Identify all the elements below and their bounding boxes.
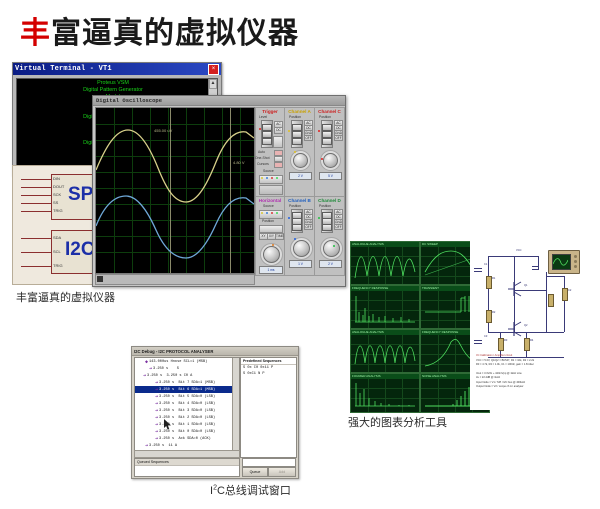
row-time: 3.250 s — [149, 444, 164, 448]
arrow-icon: ➜ — [155, 429, 158, 435]
channel-b-readout: 1 V — [289, 260, 312, 268]
spi-pin-wire — [21, 179, 51, 180]
row-text: Bit 1 SDA=0 (LSB) — [178, 423, 215, 427]
i2c-pin-wire — [21, 252, 51, 253]
resistor — [548, 294, 554, 307]
table-row[interactable]: ➜3.250 s 11 A — [135, 442, 239, 449]
schematic-annotation: Av = 22.4dB @ 1kHz — [476, 376, 500, 380]
circuit-schematic: VCC R1 R2 R3 R4 C1 C2 C3 Q1 Q2 I²C Calib… — [470, 232, 590, 410]
trigger-cursors-label: Cursors — [257, 162, 269, 166]
oscilloscope-window[interactable]: Digital Oscilloscope 455.00 uV 4.80 V — [92, 95, 346, 287]
mouse-cursor-icon — [164, 419, 172, 430]
channel-b-position-slider[interactable] — [291, 209, 303, 233]
trigger-auto-label: Auto — [258, 150, 265, 154]
row-text: Bit 4 SDA=0 (LSB) — [178, 402, 215, 406]
arrow-icon: ➜ — [149, 366, 152, 372]
channel-a-title: Channel A — [285, 108, 314, 114]
queued-sequences-panel[interactable]: Queued Sequences — [134, 458, 240, 477]
wire — [538, 256, 539, 270]
channel-d-title: Channel D — [315, 197, 344, 203]
spi-pin-label: DIN — [53, 176, 60, 181]
capacitor-plate — [474, 340, 482, 341]
row-text: S — [177, 367, 179, 371]
transistor-q2 — [508, 320, 524, 338]
horizontal-timebase-knob[interactable] — [263, 246, 280, 263]
horizontal-source-label: Source — [263, 204, 274, 208]
horizontal-mode-time[interactable]: TIME — [275, 233, 284, 240]
poster-root: 丰富逼真的虚拟仪器 Virtual Terminal - VT1 × Prote… — [0, 0, 600, 509]
trigger-level-slider[interactable] — [261, 120, 273, 148]
trigger-level-label: Level — [259, 115, 267, 119]
oscilloscope-title: Digital Oscilloscope — [93, 97, 162, 104]
row-text: 3.250 s C0 A — [166, 374, 192, 378]
wire — [546, 276, 564, 277]
queue-button[interactable]: Queue — [242, 467, 268, 477]
row-time: 3.250 s — [159, 430, 174, 434]
row-text: Bit 0 SDA=0 (LSB) — [178, 430, 215, 434]
table-row[interactable]: ➜3.250 s Bit 3 SDA=0 (LSB) — [135, 407, 239, 414]
transistor-q1 — [508, 280, 524, 298]
row-text: Hnose SCL=1 (MSB) — [171, 360, 208, 364]
virtual-terminal-title: Virtual Terminal - VT1 — [15, 65, 208, 73]
spi-pin-wire — [21, 187, 51, 188]
row-text: Bit 6 SDA=1 (MSB) — [178, 388, 215, 392]
i2c-debug-titlebar[interactable]: I2C Debug - I2C PROTOCOL ANALYSER — [132, 347, 298, 356]
capacitor-plate — [532, 269, 539, 270]
channel-d-position-slider[interactable] — [321, 209, 333, 233]
wire — [488, 256, 538, 257]
row-text: Ack SDA=0 (ACK) — [178, 437, 210, 441]
row-time: 143.000us — [149, 360, 168, 364]
trigger-source-label: Source — [263, 169, 274, 173]
horizontal-panel[interactable]: Horizontal Source Position XY X/Y TIME 1… — [255, 196, 285, 276]
schematic-label: R4 — [530, 339, 533, 342]
scroll-up-icon[interactable]: ▲ — [209, 79, 217, 89]
schematic-annotation: Output Node = V2 / scope ch A / analyser — [476, 385, 524, 389]
wire — [546, 272, 547, 332]
oscilloscope-traces — [96, 108, 254, 273]
channel-b-position-label: Position — [289, 204, 301, 208]
arrow-icon: ➜ — [145, 443, 148, 449]
arrow-icon: ➜ — [155, 422, 158, 428]
wire — [564, 276, 565, 332]
channel-d-volts-knob[interactable] — [323, 240, 340, 257]
oscilloscope-controls: Trigger Level AC DC Auto One-Shot Cursor… — [255, 107, 343, 284]
list-item[interactable]: S 0xC1 N P — [241, 371, 296, 377]
trigger-extra-control[interactable] — [259, 185, 283, 195]
oscilloscope-screen-hscroll[interactable] — [95, 274, 255, 285]
graph-analysis-panels: ANALOGUE ANALYSIS DC SWEEP FREQUENCY RES… — [350, 241, 490, 411]
schematic-label: R1 — [492, 277, 495, 280]
i2c-list-hscrollbar[interactable] — [134, 450, 240, 458]
i2c-pin-label: TRIG — [53, 263, 63, 268]
row-text: Bit 5 SDA=0 (LSB) — [178, 395, 215, 399]
spi-pin-wire — [21, 195, 51, 196]
arrow-icon: ➜ — [155, 401, 158, 407]
row-text: Bit 3 SDA=0 (LSB) — [178, 409, 215, 413]
virtual-terminal-titlebar[interactable]: Virtual Terminal - VT1 × — [13, 63, 221, 75]
trigger-oneshot-label: One-Shot — [255, 156, 270, 160]
trigger-panel[interactable]: Trigger Level AC DC Auto One-Shot Cursor… — [255, 107, 285, 197]
channel-d-panel[interactable]: Channel D Position AC DC GND OFF 2 V — [314, 196, 345, 276]
channel-c-panel[interactable]: Channel C Position AC DC GND OFF 5 V — [314, 107, 345, 197]
spi-pin-label: TRIG — [53, 208, 63, 213]
channel-a-readout: 2 V — [289, 172, 312, 180]
row-text: Bit 2 SDA=0 (LSB) — [178, 416, 215, 420]
table-row[interactable]: ➜3.250 s Bit 0 SDA=0 (LSB) — [135, 428, 239, 435]
channel-a-coupling-off[interactable]: OFF — [304, 135, 313, 141]
table-row[interactable]: ➜3.250 s Bit 4 SDA=0 (LSB) — [135, 400, 239, 407]
channel-a-position-slider[interactable] — [291, 120, 303, 148]
table-row-selected[interactable]: ➜3.250 s Bit 6 SDA=1 (MSB) — [135, 386, 239, 393]
arrow-icon: ➜ — [155, 394, 158, 400]
oscilloscope-icon — [548, 250, 580, 274]
spi-pin-label: DOUT — [53, 184, 64, 189]
graph-panel[interactable]: ANALOGUE ANALYSIS — [350, 329, 420, 373]
i2c-chip-label: I2C — [65, 239, 95, 261]
row-time: 3.250 s — [153, 367, 168, 371]
horizontal-readout: 1 ms — [259, 266, 283, 274]
capacitor-plate — [474, 343, 482, 344]
trigger-panel-title: Trigger — [256, 108, 284, 114]
osc-screen-label: 4.80 V — [233, 160, 245, 165]
terminal-line: Proteus VSM — [19, 80, 207, 87]
channel-c-title: Channel C — [315, 108, 344, 114]
channel-a-panel[interactable]: Channel A Position AC DC GND OFF 2 V — [284, 107, 315, 197]
schematic-label: C2 — [568, 289, 571, 292]
spi-pin-label: SCK — [53, 192, 61, 197]
channel-b-volts-knob[interactable] — [293, 240, 310, 257]
channel-c-readout: 5 V — [319, 172, 342, 180]
table-row[interactable]: ➜3.250 s 3.250 s C0 A — [135, 372, 239, 379]
queued-sequences-label: Queued Sequences — [135, 459, 239, 466]
bullet-icon: ◆ — [145, 359, 148, 365]
arrow-icon: ➜ — [155, 380, 158, 386]
schematic-label: C3 — [484, 335, 487, 338]
channel-c-coupling-off[interactable]: OFF — [334, 135, 343, 141]
caption-instruments: 丰富逼真的虚拟仪器 — [16, 289, 115, 305]
graph-panel[interactable]: ANALOGUE ANALYSIS — [350, 241, 420, 285]
row-time: 3.250 s — [159, 437, 174, 441]
table-row[interactable]: ➜3.250 s S — [135, 365, 239, 372]
channel-c-position-label: Position — [319, 115, 331, 119]
horizontal-position-slider[interactable] — [259, 225, 283, 233]
arrow-icon: ➜ — [155, 408, 158, 414]
row-time: 3.250 s — [159, 409, 174, 413]
table-row[interactable]: ➜3.250 s Bit 1 SDA=0 (LSB) — [135, 421, 239, 428]
caption-graphs: 强大的图表分析工具 — [348, 414, 447, 430]
i2c-debug-title: I2C Debug - I2C PROTOCOL ANALYSER — [132, 349, 213, 354]
channel-d-position-label: Position — [319, 204, 331, 208]
caption-i2c: I2C总线调试窗口 — [210, 482, 291, 498]
arrow-icon: ➜ — [155, 387, 158, 393]
i2c-list-scrollbar[interactable] — [232, 358, 239, 450]
row-time: 3.250 s — [147, 374, 162, 378]
trigger-edge-button[interactable] — [273, 136, 283, 148]
i2c-pin-wire — [21, 266, 51, 267]
arrow-icon: ➜ — [155, 415, 158, 421]
table-row[interactable]: ➜3.250 s Bit 2 SDA=0 (LSB) — [135, 414, 239, 421]
row-time: 3.250 s — [159, 381, 174, 385]
horizontal-position-label: Position — [262, 219, 274, 223]
schematic-label: R3 — [504, 339, 507, 342]
trigger-cursors-button[interactable] — [274, 162, 283, 168]
table-row[interactable]: ➜3.250 s Bit 7 SDA=1 (MSB) — [135, 379, 239, 386]
page-title: 丰富逼真的虚拟仪器 — [20, 8, 299, 52]
capacitor-plate — [474, 268, 482, 269]
channel-b-title: Channel B — [285, 197, 314, 203]
graph-panel[interactable]: FOURIER ANALYSIS — [350, 373, 420, 413]
page-title-rest: 富逼真的虚拟仪器 — [51, 17, 299, 50]
row-time: 3.250 s — [159, 402, 174, 406]
row-time: 3.250 s — [159, 395, 174, 399]
channel-d-readout: 2 V — [319, 260, 342, 268]
i2c-pin-label: SCL — [53, 249, 61, 254]
oscilloscope-titlebar[interactable]: Digital Oscilloscope — [93, 96, 345, 106]
i2c-trace-list[interactable]: ◆143.000us Hnose SCL=1 (MSB) ➜3.250 s S … — [134, 357, 240, 451]
schematic-label: C1 — [484, 263, 487, 266]
sequence-input[interactable] — [242, 458, 296, 467]
channel-d-coupling-off[interactable]: OFF — [334, 224, 343, 230]
i2c-debug-window[interactable]: I2C Debug - I2C PROTOCOL ANALYSER ◆143.0… — [131, 346, 299, 479]
schematic-label: Q2 — [524, 324, 527, 327]
table-row[interactable]: ➜3.250 s Ack SDA=0 (ACK) — [135, 435, 239, 442]
arrow-icon: ➜ — [143, 373, 146, 379]
channel-c-volts-knob[interactable] — [323, 153, 338, 168]
i2c-pin-wire — [21, 238, 51, 239]
arrow-icon: ➜ — [155, 436, 158, 442]
capacitor-plate — [474, 271, 482, 272]
terminal-line: Digital Pattern Generator — [19, 87, 207, 94]
page-title-red-char: 丰 — [20, 17, 51, 50]
row-text: Bit 7 SDA=1 (MSB) — [178, 381, 215, 385]
spi-pin-label: SS — [53, 200, 58, 205]
schematic-annotation: R3 = 4.7k, R4 = 1.0k, C1 = 100nF, gain =… — [476, 363, 534, 367]
predefined-sequences-panel[interactable]: Predefined Sequences S 0x C0 0x11 P S 0x… — [240, 357, 297, 458]
capacitor-plate — [532, 266, 539, 267]
i2c-pin-label: SDA — [53, 235, 61, 240]
spi-pin-wire — [21, 211, 51, 212]
oscilloscope-screen: 455.00 uV 4.80 V — [95, 107, 255, 274]
add-button[interactable]: Add — [268, 467, 296, 477]
schematic-label: R2 — [492, 311, 495, 314]
channel-c-position-slider[interactable] — [321, 120, 333, 148]
schematic-annotation: I²C Calibration / Amplifier circuit — [476, 354, 512, 358]
predefined-sequences-header: Predefined Sequences — [241, 358, 296, 365]
channel-a-volts-knob[interactable] — [293, 153, 308, 168]
schematic-label: VCC — [516, 249, 521, 252]
osc-screen-label: 455.00 uV — [154, 128, 172, 133]
horizontal-panel-title: Horizontal — [256, 197, 284, 203]
table-row[interactable]: ◆143.000us Hnose SCL=1 (MSB) — [135, 358, 239, 365]
table-row[interactable]: ➜3.250 s Bit 5 SDA=0 (LSB) — [135, 393, 239, 400]
graph-panel[interactable]: FREQUENCY RESPONSE — [350, 285, 420, 329]
trigger-coupling-dc[interactable]: DC — [274, 127, 283, 134]
caption-i2c-post: C总线调试窗口 — [217, 485, 291, 497]
schematic-label: Q1 — [524, 284, 527, 287]
spi-pin-wire — [21, 203, 51, 204]
channel-a-position-label: Position — [289, 115, 301, 119]
row-time: 3.250 s — [159, 388, 174, 392]
channel-b-coupling-off[interactable]: OFF — [304, 224, 313, 230]
row-text: 11 A — [168, 444, 177, 448]
channel-b-panel[interactable]: Channel B Position AC DC GND OFF 1 V — [284, 196, 315, 276]
close-icon[interactable]: × — [208, 64, 219, 75]
